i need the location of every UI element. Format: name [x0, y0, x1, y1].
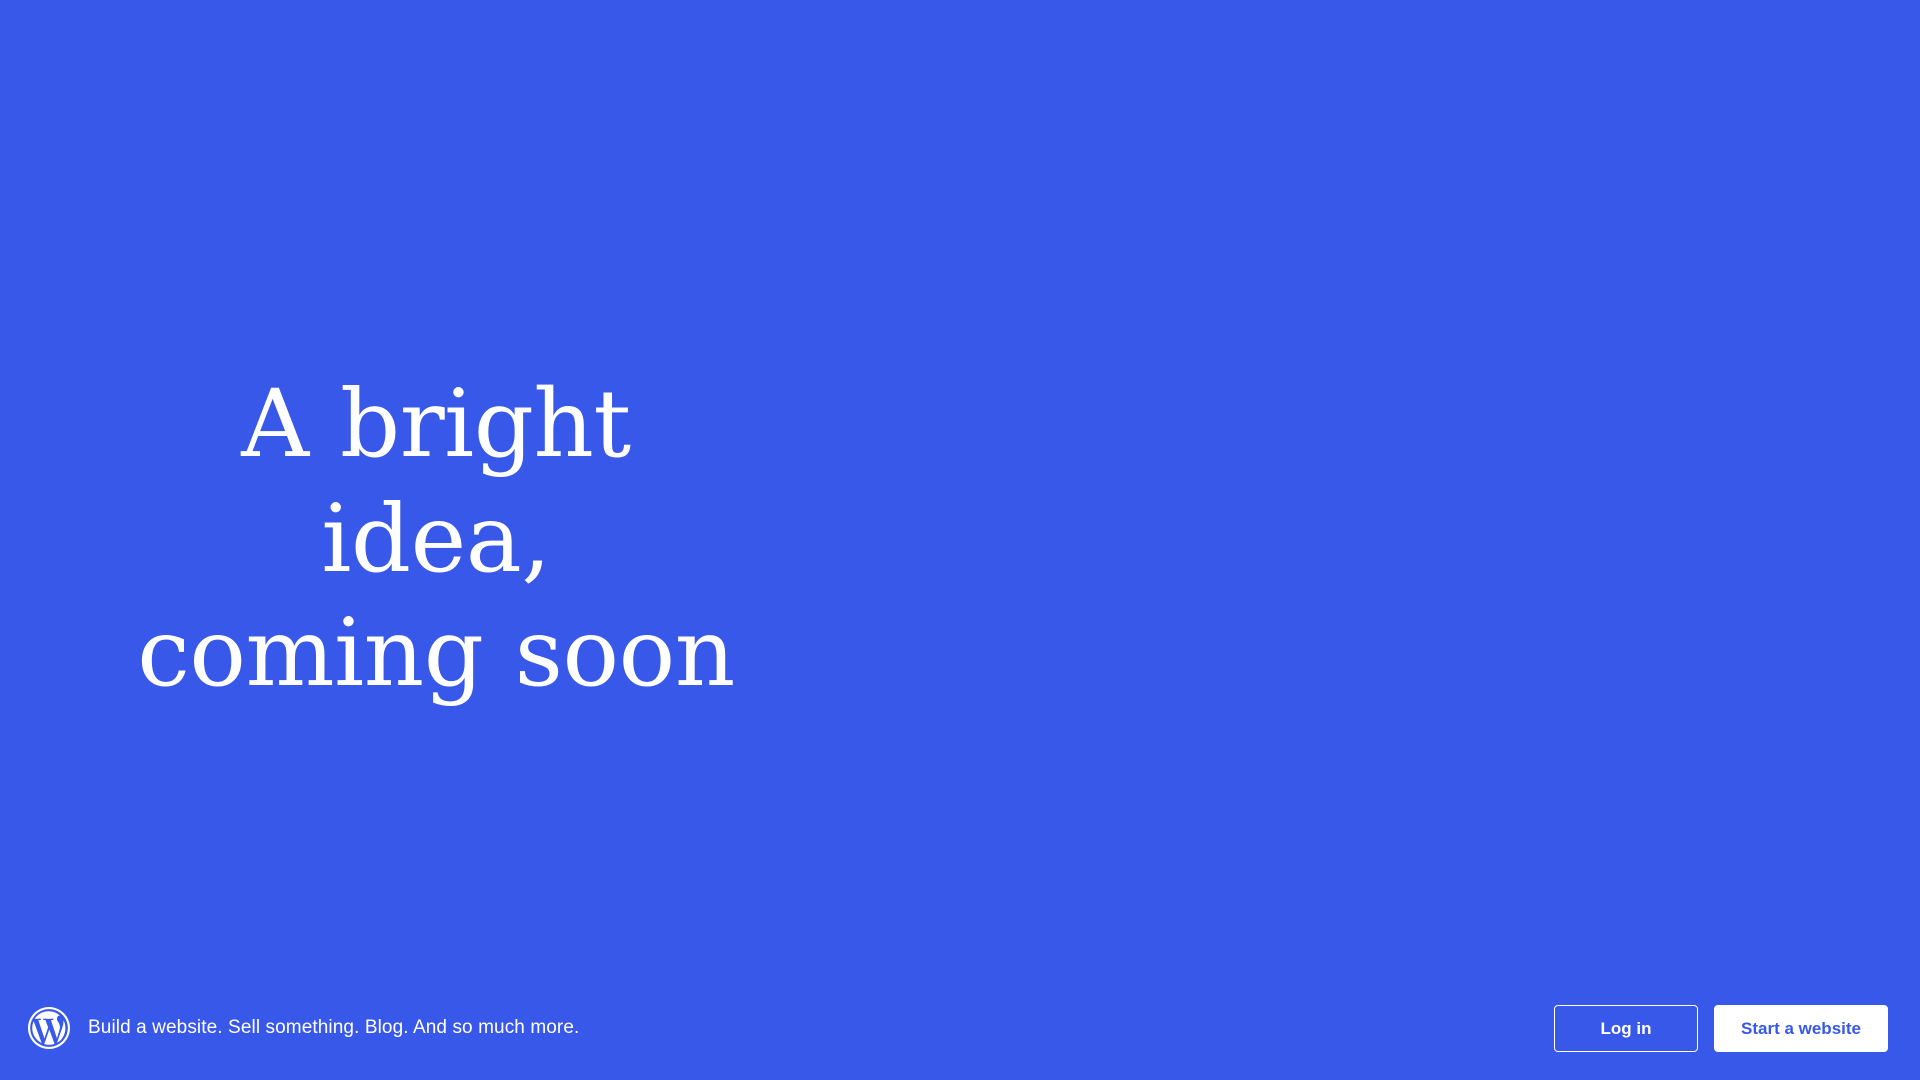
hero-content: A bright idea, coming soon [0, 368, 760, 712]
footer-branding: Build a website. Sell something. Blog. A… [28, 1007, 1554, 1049]
start-a-website-button[interactable]: Start a website [1714, 1005, 1888, 1052]
page-title: A bright idea, coming soon [112, 368, 760, 712]
footer-tagline: Build a website. Sell something. Blog. A… [88, 1017, 579, 1039]
page-title-line-2: coming soon [137, 599, 735, 708]
page-title-line-1: A bright idea, [241, 370, 630, 594]
wordpress-logo[interactable] [28, 1007, 70, 1049]
footer-actions: Log in Start a website [1554, 1005, 1888, 1052]
footer-bar: Build a website. Sell something. Blog. A… [0, 976, 1920, 1080]
hero-section: A bright idea, coming soon [0, 0, 1920, 1080]
log-in-button[interactable]: Log in [1554, 1005, 1698, 1052]
